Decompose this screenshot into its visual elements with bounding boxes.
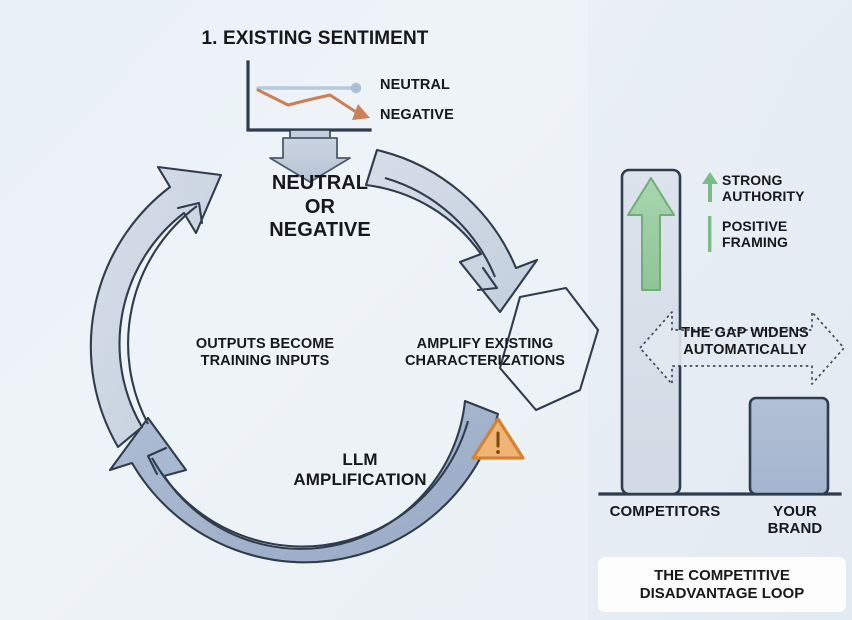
loop-center-state-label: NEUTRAL OR NEGATIVE xyxy=(230,172,410,243)
loop-arc-outputs xyxy=(91,167,221,447)
caption-text: THE COMPETITIVE DISADVANTAGE LOOP xyxy=(640,567,804,603)
infographic-canvas: 1. EXISTING SENTIMENT NEUTRAL NEGATIVE N… xyxy=(0,0,852,620)
page-title: 1. EXISTING SENTIMENT xyxy=(150,28,480,50)
gap-callout-label: THE GAP WIDENS AUTOMATICALLY xyxy=(665,325,825,359)
bar-label-competitors: COMPETITORS xyxy=(595,503,735,520)
negative-series-line xyxy=(258,90,356,112)
sentiment-mini-chart xyxy=(248,62,370,142)
neutral-series-marker xyxy=(351,83,361,93)
positive-framing-marker-icon xyxy=(708,216,711,252)
loop-stage-llm-label: LLM AMPLIFICATION xyxy=(230,450,490,489)
legend-item-neutral: NEUTRAL xyxy=(380,77,510,94)
advantage-positive-framing-label: POSITIVE FRAMING xyxy=(722,218,847,250)
legend-item-negative: NEGATIVE xyxy=(380,107,520,124)
caption-card: THE COMPETITIVE DISADVANTAGE LOOP xyxy=(598,557,846,612)
advantage-strong-authority-label: STRONG AUTHORITY xyxy=(722,172,847,204)
loop-stage-outputs-label: OUTPUTS BECOME TRAINING INPUTS xyxy=(140,336,390,370)
loop-stage-amplify-label: AMPLIFY EXISTING CHARACTERIZATIONS xyxy=(375,336,595,370)
bar-your-brand xyxy=(750,398,828,494)
bar-label-your-brand: YOUR BRAND xyxy=(745,503,845,538)
